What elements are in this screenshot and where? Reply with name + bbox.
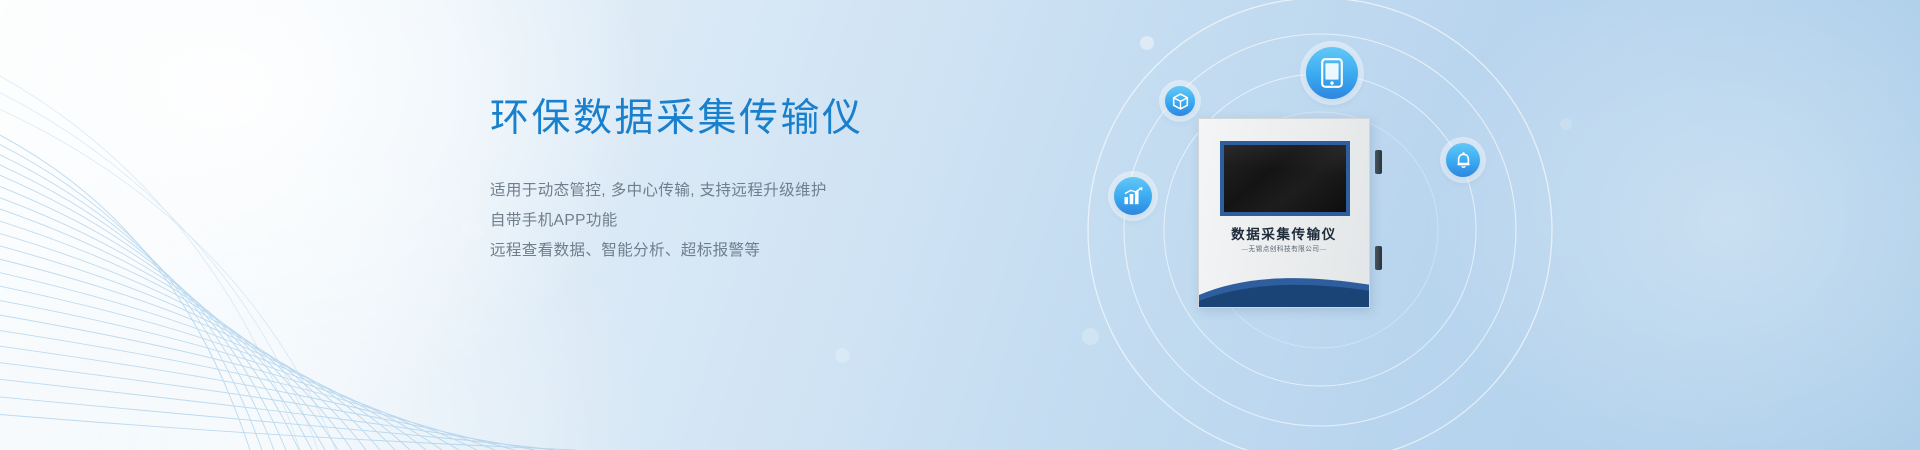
page-title: 环保数据采集传输仪 [490,95,1050,144]
decorative-dot [1560,118,1572,130]
alarm-bell-icon[interactable] [1446,143,1480,177]
feature-list-item: 远程查看数据、智能分析、超标报警等 [490,236,1050,266]
decorative-dot [462,218,484,240]
device-footer-wave [1199,265,1370,307]
device-enclosure: 数据采集传输仪 —无锡点创科技有限公司— [1198,118,1370,308]
decorative-dot [835,348,850,363]
device-model-label: 数据采集传输仪 [1199,223,1369,243]
product-hero-banner: 环保数据采集传输仪 适用于动态管控, 多中心传输, 支持远程升级维护 自带手机A… [0,0,1920,450]
device-hinge [1375,246,1382,270]
feature-list: 适用于动态管控, 多中心传输, 支持远程升级维护 自带手机APP功能 远程查看数… [490,176,1050,266]
mobile-phone-icon[interactable] [1306,47,1358,99]
device-hinge [1375,150,1382,174]
decorative-dot [1082,328,1099,345]
decorative-dot [1140,36,1154,50]
device-company-label: —无锡点创科技有限公司— [1199,243,1369,253]
cube-box-icon[interactable] [1165,86,1195,116]
hero-text-block: 环保数据采集传输仪 适用于动态管控, 多中心传输, 支持远程升级维护 自带手机A… [490,95,1050,266]
device-screen [1224,145,1346,212]
feature-list-item: 自带手机APP功能 [490,206,1050,236]
product-image: 数据采集传输仪 —无锡点创科技有限公司— [1198,118,1376,308]
feature-list-item: 适用于动态管控, 多中心传输, 支持远程升级维护 [490,176,1050,206]
bar-chart-icon[interactable] [1114,177,1152,215]
device-screen-bezel [1220,141,1350,216]
background-glow-right [1420,0,1920,450]
